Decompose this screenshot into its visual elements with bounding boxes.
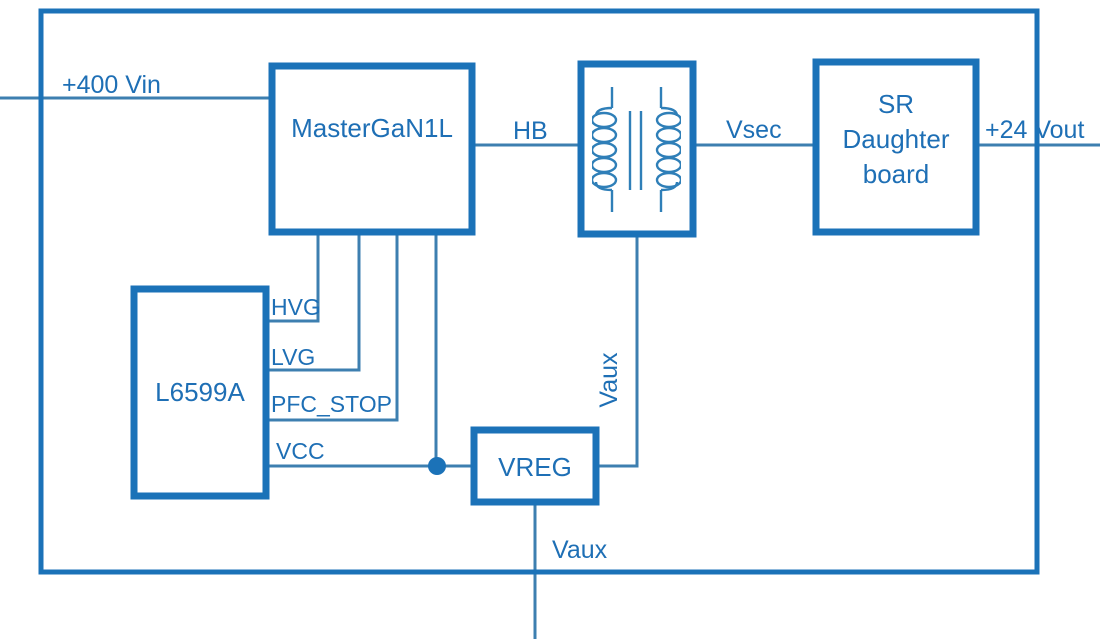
block-label-l6599a: L6599A <box>155 377 245 407</box>
wire-label-hvg: HVG <box>271 294 321 320</box>
block-label-mastergan1l: MasterGaN1L <box>291 113 453 143</box>
block-diagram-svg: MasterGaN1L SR Daughter board L6599A VRE… <box>0 0 1100 639</box>
wire-label-hb: HB <box>513 117 548 145</box>
wire-label-vcc: VCC <box>276 438 325 464</box>
wire-vaux <box>596 234 637 466</box>
block-label-sr-line-3: board <box>863 159 930 189</box>
block-label-sr-line-1: SR <box>878 89 914 119</box>
block-transformer[interactable] <box>581 64 693 234</box>
wire-label-vsec: Vsec <box>726 116 782 144</box>
wire-label-vout: +24 Vout <box>985 116 1084 144</box>
transformer-left-mask <box>585 112 592 190</box>
block-label-vreg: VREG <box>498 452 572 482</box>
transformer-right-mask <box>681 112 689 190</box>
wire-label-vin: +400 Vin <box>62 71 161 99</box>
wire-label-vaux-bottom: Vaux <box>552 536 608 564</box>
wire-label-lvg: LVG <box>271 344 315 370</box>
block-mastergan1l[interactable] <box>272 66 472 232</box>
block-label-sr-line-2: Daughter <box>843 124 950 154</box>
wire-label-pfc-stop: PFC_STOP <box>271 391 392 417</box>
block-diagram-canvas: MasterGaN1L SR Daughter board L6599A VRE… <box>0 0 1100 639</box>
junction-dot-vcc <box>428 457 446 475</box>
wire-label-vaux-vertical: Vaux <box>595 352 623 408</box>
